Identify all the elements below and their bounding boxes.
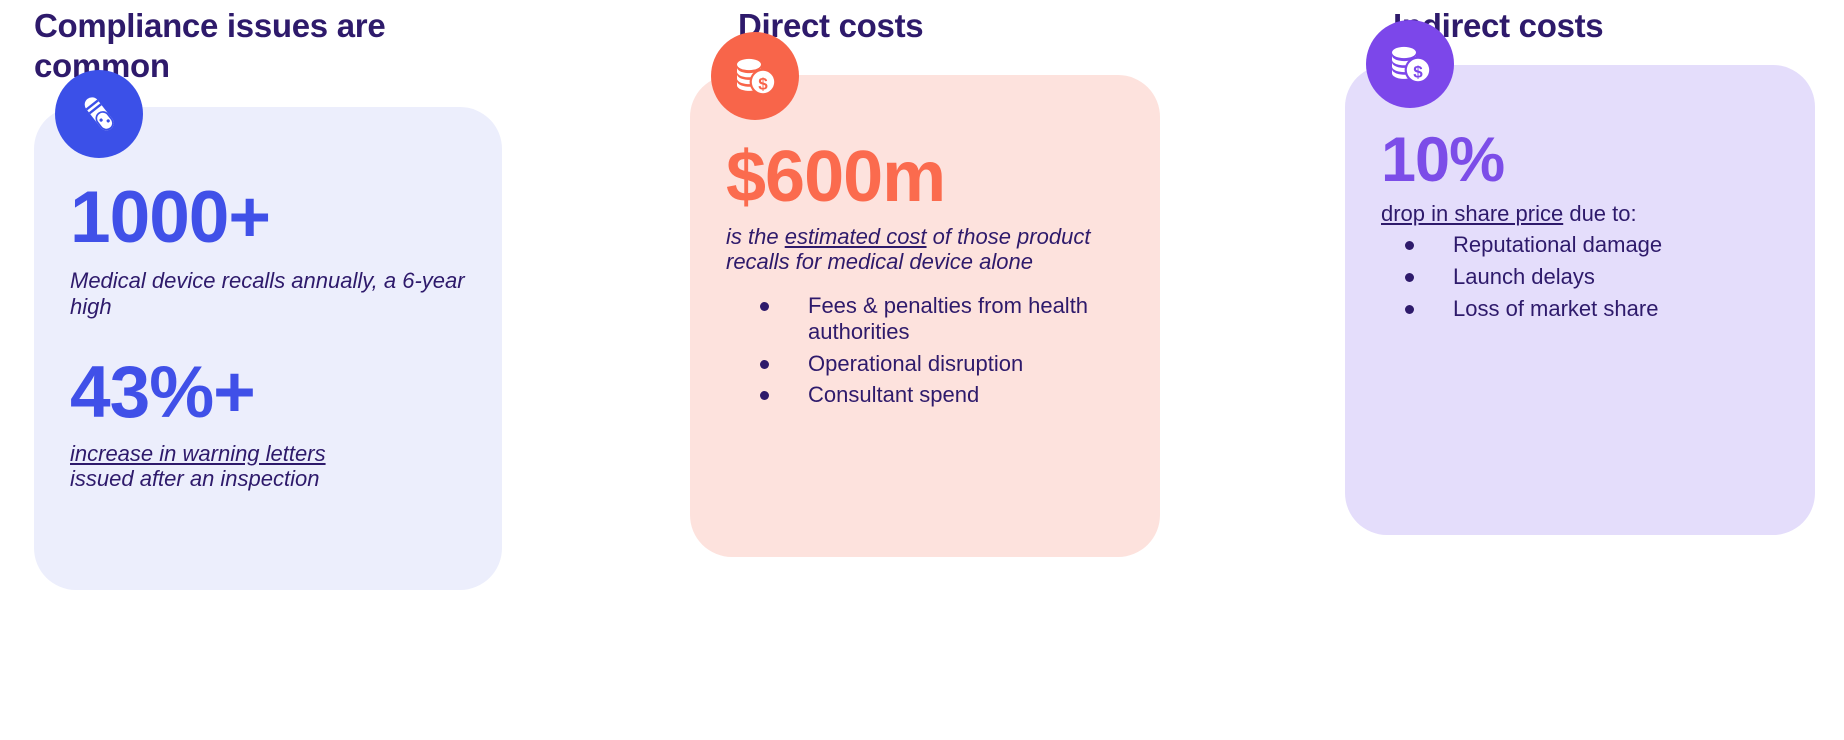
column-direct-costs: Direct costs $ $600m [690,0,1170,557]
stat-card: $ $600m is the estimated cost of those p… [690,75,1160,557]
infographic-board: Compliance issues are common 100 [0,0,1844,740]
stat-value: 43%+ [70,356,466,429]
caption-prefix: is the [726,224,785,249]
stat-caption: increase in warning letters issued after… [70,441,466,492]
card-body: 1000+ Medical device recalls annually, a… [34,107,502,492]
svg-text:$: $ [1413,62,1423,81]
caption-link[interactable]: estimated cost [785,224,927,249]
list-item: Loss of market share [1403,296,1779,322]
caption-text: issued after an inspection [70,466,320,491]
caption-text: Medical device recalls annually, a 6-yea… [70,268,465,319]
pill-capsule-icon [55,70,143,158]
stat-value: 1000+ [70,181,466,254]
list-item: Launch delays [1403,264,1779,290]
bullet-list: Fees & penalties from health authorities… [726,293,1124,408]
coins-dollar-icon: $ [1366,20,1454,108]
column-indirect-costs: Indirect costs $ 10% [1345,0,1825,535]
list-item: Operational disruption [758,351,1124,377]
bullet-list: Reputational damage Launch delays Loss o… [1381,232,1779,321]
caption-link[interactable]: increase in warning letters [70,441,326,466]
card-body: $600m is the estimated cost of those pro… [690,75,1160,408]
stat-value: 10% [1381,129,1779,192]
list-item: Consultant spend [758,382,1124,408]
stat-value: $600m [726,141,1124,213]
caption-link[interactable]: drop in share price [1381,201,1563,226]
stat-card: $ 10% drop in share price due to: Reputa… [1345,65,1815,535]
stat-caption: drop in share price due to: [1381,201,1779,227]
stat-caption: is the estimated cost of those product r… [726,224,1124,275]
stat-card: 1000+ Medical device recalls annually, a… [34,107,502,590]
column-compliance-issues: Compliance issues are common 100 [34,0,514,590]
svg-text:$: $ [758,74,768,93]
list-item: Fees & penalties from health authorities [758,293,1124,344]
coins-dollar-icon: $ [711,32,799,120]
stat-caption: Medical device recalls annually, a 6-yea… [70,268,466,319]
caption-text: due to: [1563,201,1636,226]
list-item: Reputational damage [1403,232,1779,258]
